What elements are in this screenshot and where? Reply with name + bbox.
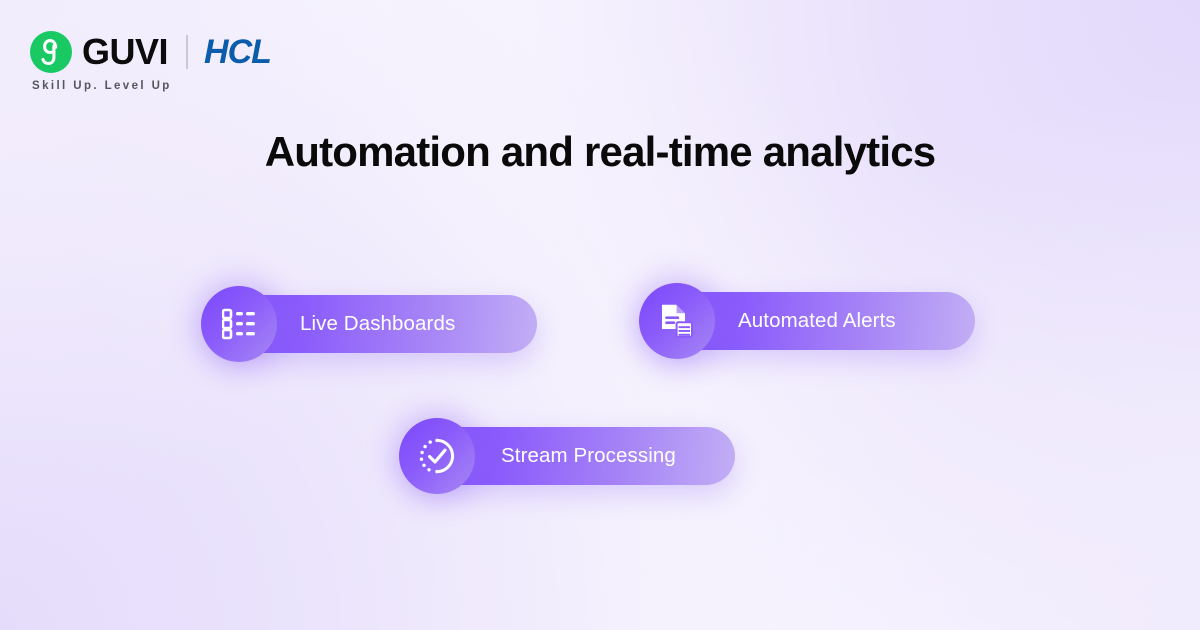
background-wash-top-right bbox=[0, 0, 1200, 630]
background-wash-bottom-right bbox=[0, 0, 1200, 630]
guvi-g-mark-icon bbox=[30, 31, 72, 73]
feature-pill-label: Stream Processing bbox=[501, 444, 676, 468]
feature-pill-label: Live Dashboards bbox=[300, 312, 455, 336]
brand-lockup: GUVI HCL Skill Up. Level Up bbox=[30, 30, 271, 92]
feature-pill-label: Automated Alerts bbox=[738, 309, 896, 333]
feature-pill-automated-alerts[interactable]: Automated Alerts bbox=[648, 292, 975, 350]
brand-tagline: Skill Up. Level Up bbox=[32, 80, 271, 92]
guvi-wordmark: GUVI bbox=[82, 34, 168, 70]
page-title: Automation and real-time analytics bbox=[0, 128, 1200, 176]
background-wash-bottom-left bbox=[0, 0, 1200, 630]
brand-divider bbox=[186, 35, 188, 69]
feature-pill-stream-processing[interactable]: Stream Processing bbox=[408, 427, 735, 485]
poster-canvas: GUVI HCL Skill Up. Level Up Automation a… bbox=[0, 0, 1200, 630]
dotted-circle-check-icon bbox=[399, 418, 475, 494]
brand-logos-row: GUVI HCL bbox=[30, 30, 271, 74]
hcl-wordmark: HCL bbox=[204, 35, 271, 69]
list-dashboard-icon bbox=[201, 286, 277, 362]
background-wash-top-left bbox=[0, 0, 1200, 630]
document-stack-icon bbox=[639, 283, 715, 359]
feature-pill-live-dashboards[interactable]: Live Dashboards bbox=[210, 295, 537, 353]
